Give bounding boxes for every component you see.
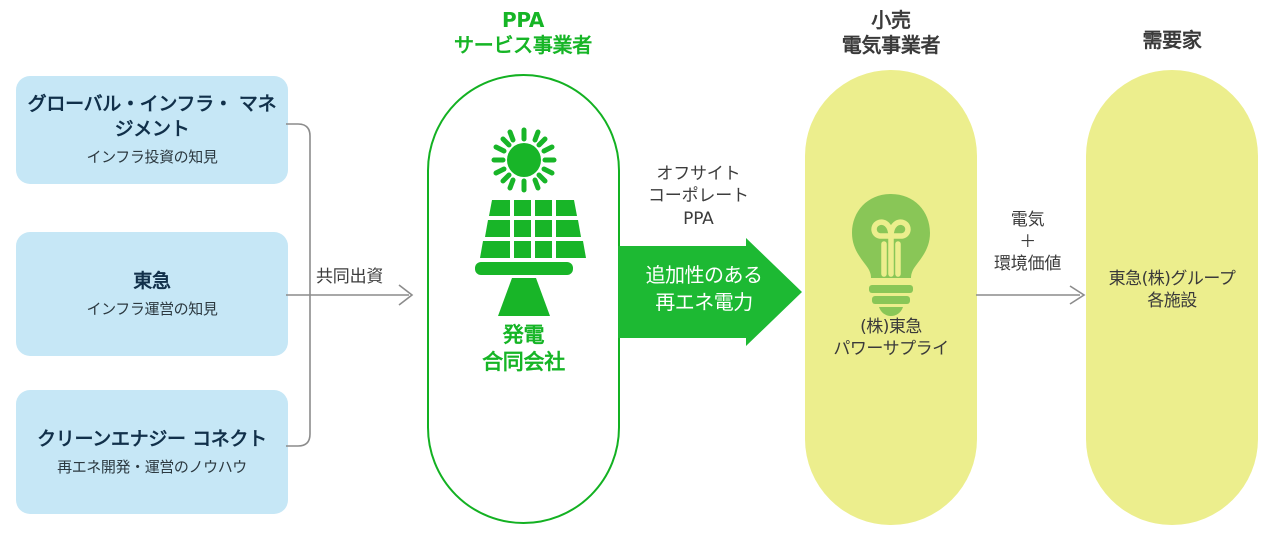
partner-subtitle: インフラ投資の知見 (87, 148, 218, 168)
partner-title: グローバル・インフラ・ マネジメント (26, 92, 278, 141)
partners-bracket-connector (284, 122, 424, 462)
offsite-corporate-ppa-label: オフサイト コーポレート PPA (648, 163, 749, 230)
electricity-value-arrow (976, 283, 1088, 307)
partner-box-global-infra: グローバル・インフラ・ マネジメント インフラ投資の知見 (16, 76, 288, 184)
column-heading-consumer: 需要家 (1086, 28, 1258, 53)
column-heading-ppa: PPA サービス事業者 (423, 8, 623, 58)
partner-title: クリーンエナジー コネクト (37, 427, 267, 451)
partner-box-clean-energy-connect: クリーンエナジー コネクト 再エネ開発・運営のノウハウ (16, 390, 288, 514)
partner-subtitle: 再エネ開発・運営のノウハウ (57, 458, 247, 478)
solar-panel-icon (465, 128, 583, 313)
joint-investment-label: 共同出資 (316, 262, 383, 287)
retailer-icon-caption: (株)東急 パワーサプライ (805, 316, 977, 360)
diagram-canvas: グローバル・インフラ・ マネジメント インフラ投資の知見 東急 インフラ運営の知… (0, 0, 1280, 533)
partner-subtitle: インフラ運営の知見 (87, 300, 218, 320)
consumer-caption: 東急(株)グループ 各施設 (1086, 268, 1258, 312)
lightbulb-icon (846, 192, 936, 316)
partner-box-tokyu: 東急 インフラ運営の知見 (16, 232, 288, 356)
ppa-icon-caption: 発電 合同会社 (427, 322, 620, 377)
electricity-value-label: 電気 ＋ 環境価値 (994, 209, 1061, 275)
column-heading-retailer: 小売 電気事業者 (805, 8, 977, 58)
partner-title: 東急 (133, 269, 170, 293)
renewable-power-arrow-text: 追加性のある 再エネ電力 (624, 262, 784, 316)
